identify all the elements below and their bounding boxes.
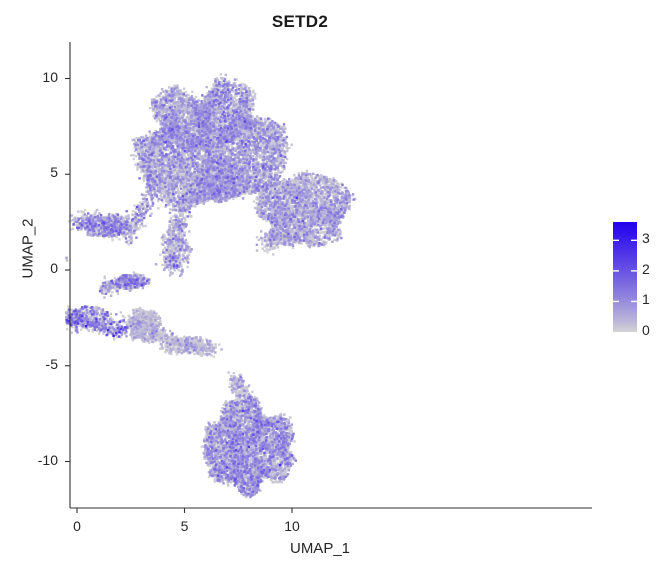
x-tick-label: 10	[272, 518, 312, 534]
umap-feature-plot: SETD2 -10-50510 -10-50510 UMAP_1 UMAP_2 …	[0, 0, 672, 576]
y-tick-label: 10	[18, 69, 58, 85]
colorbar-gradient	[613, 222, 637, 332]
colorbar-tick-label: 0	[642, 322, 662, 338]
colorbar-tick-label: 1	[642, 291, 662, 307]
plot-canvas	[0, 0, 672, 576]
y-tick-label: -5	[18, 356, 58, 372]
colorbar-tick-label: 2	[642, 261, 662, 277]
y-axis-title: UMAP_2	[20, 169, 37, 329]
x-tick-label: 0	[57, 518, 97, 534]
x-tick-label: 5	[165, 518, 205, 534]
y-tick-label: -10	[18, 452, 58, 468]
scatter-points-layer	[65, 73, 357, 498]
axis-lines-layer	[0, 42, 592, 513]
x-axis-title: UMAP_1	[70, 540, 570, 557]
colorbar-layer	[613, 222, 637, 332]
colorbar-tick-label: 3	[642, 230, 662, 246]
